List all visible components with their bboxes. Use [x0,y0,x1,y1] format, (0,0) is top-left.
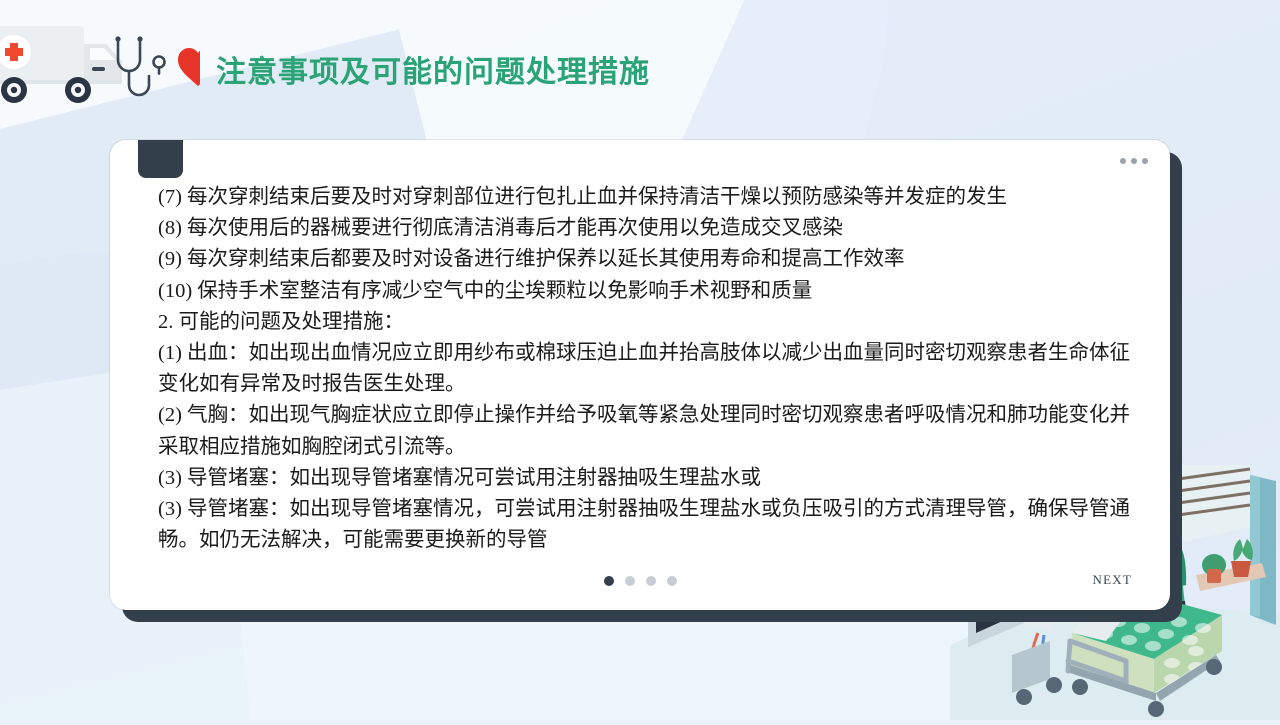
content-line: (7) 每次穿刺结束后要及时对穿刺部位进行包扎止血并保持清洁干燥以预防感染等并发… [158,182,1136,213]
content-line: (3) 导管堵塞：如出现导管堵塞情况可尝试用注射器抽吸生理盐水或 [158,463,1136,494]
content-line-section-heading: 2. 可能的问题及处理措施： [158,307,1136,338]
page-title: 注意事项及可能的问题处理措施 [216,47,650,91]
stethoscope-icon [118,40,165,95]
content-line: (10) 保持手术室整洁有序减少空气中的尘埃颗粒以免影响手术视野和质量 [158,276,1136,307]
pagination-dots[interactable] [110,576,1170,586]
pagination-dot-2[interactable] [625,576,635,586]
content-card-wrapper: (7) 每次穿刺结束后要及时对穿刺部位进行包扎止血并保持清洁干燥以预防感染等并发… [110,140,1170,610]
pagination-dot-1[interactable] [604,576,614,586]
page-header: 注意事项及可能的问题处理措施 [0,0,1280,130]
card-menu-dots[interactable] [1120,158,1148,164]
content-line: (8) 每次使用后的器械要进行彻底清洁消毒后才能再次使用以免造成交叉感染 [158,213,1136,244]
menu-dot [1120,158,1126,164]
card-text-body: (7) 每次穿刺结束后要及时对穿刺部位进行包扎止血并保持清洁干燥以预防感染等并发… [158,182,1136,556]
content-line: (1) 出血：如出现出血情况应立即用纱布或棉球压迫止血并抬高肢体以减少出血量同时… [158,338,1136,400]
content-line: (2) 气胸：如出现气胸症状应立即停止操作并给予吸氧等紧急处理同时密切观察患者呼… [158,400,1136,462]
menu-dot [1142,158,1148,164]
content-line: (9) 每次穿刺结束后都要及时对设备进行维护保养以延长其使用寿命和提高工作效率 [158,244,1136,275]
menu-dot [1131,158,1137,164]
card-top-tab [138,140,183,178]
window-blinds-icon [1178,465,1250,543]
pagination-dot-3[interactable] [646,576,656,586]
next-button[interactable]: NEXT [1093,572,1132,588]
heart-icon [178,48,200,86]
header-icon-group [0,22,200,108]
ambulance-icon [0,26,122,103]
pagination-dot-4[interactable] [667,576,677,586]
curtain-icon [1250,475,1276,625]
content-card: (7) 每次穿刺结束后要及时对穿刺部位进行包扎止血并保持清洁干燥以预防感染等并发… [110,140,1170,610]
content-line: (3) 导管堵塞：如出现导管堵塞情况，可尝试用注射器抽吸生理盐水或负压吸引的方式… [158,494,1136,556]
